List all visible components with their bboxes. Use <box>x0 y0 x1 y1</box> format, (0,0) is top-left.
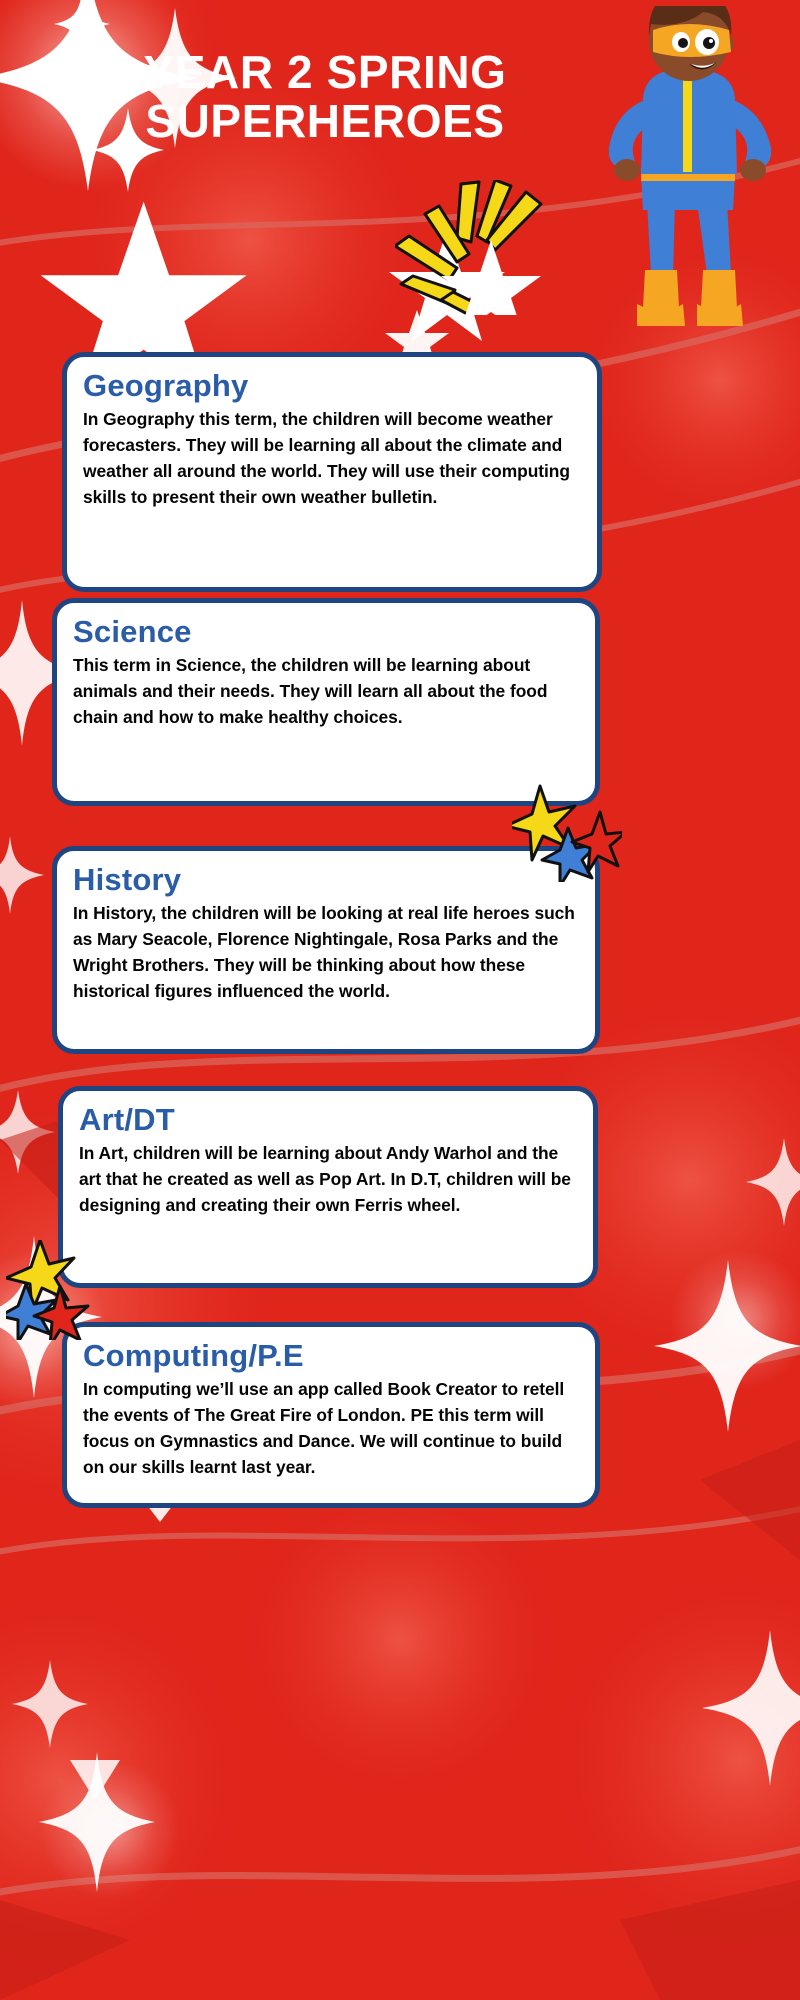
subject-body-geography: In Geography this term, the children wil… <box>83 406 579 510</box>
subject-body-science: This term in Science, the children will … <box>73 652 577 730</box>
subject-cards-list: Geography In Geography this term, the ch… <box>0 0 800 2000</box>
subject-heading-geography: Geography <box>83 369 579 404</box>
subject-heading-history: History <box>73 863 577 898</box>
subject-heading-art-dt: Art/DT <box>79 1103 575 1138</box>
subject-card-science[interactable]: Science This term in Science, the childr… <box>52 598 600 806</box>
subject-card-history[interactable]: History In History, the children will be… <box>52 846 600 1054</box>
subject-body-art-dt: In Art, children will be learning about … <box>79 1140 575 1218</box>
subject-heading-computing-pe: Computing/P.E <box>83 1339 577 1374</box>
subject-body-history: In History, the children will be looking… <box>73 900 577 1004</box>
subject-card-geography[interactable]: Geography In Geography this term, the ch… <box>62 352 602 592</box>
subject-card-computing-pe[interactable]: Computing/P.E In computing we’ll use an … <box>62 1322 600 1508</box>
subject-heading-science: Science <box>73 615 577 650</box>
subject-card-art-dt[interactable]: Art/DT In Art, children will be learning… <box>58 1086 598 1288</box>
subject-body-computing-pe: In computing we’ll use an app called Boo… <box>83 1376 577 1480</box>
